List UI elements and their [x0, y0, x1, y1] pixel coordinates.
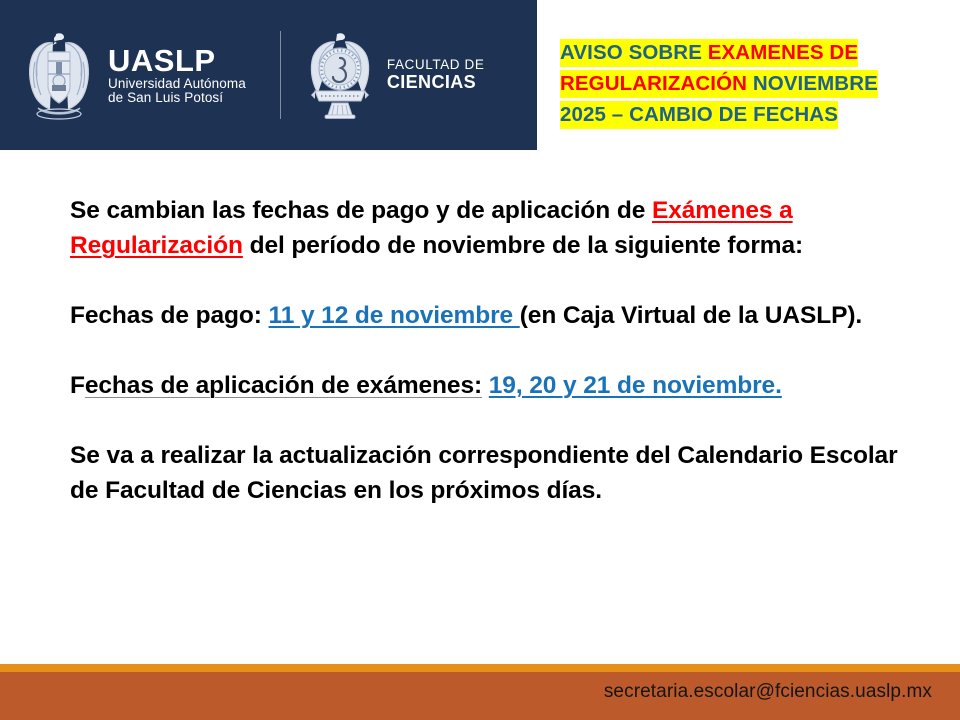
uaslp-eagle-crest-icon [22, 28, 96, 122]
uaslp-acronym: UASLP [108, 45, 246, 77]
p3-space [482, 372, 489, 399]
p2-text-c: (en Caja Virtual de la UASLP). [520, 302, 862, 329]
uaslp-wordmark: UASLP Universidad Autónoma de San Luis P… [108, 45, 246, 104]
notice-title-part-cambio-de-fechas: 2025 – CAMBIO DE FECHAS [560, 101, 838, 129]
body-paragraph-3-fechas-de-aplicacion: Fechas de aplicación de exámenes: 19, 20… [70, 368, 925, 403]
facultad-line2: CIENCIAS [387, 73, 485, 92]
notice-title: AVISO SOBRE EXAMENES DE REGULARIZACIÓN N… [560, 37, 950, 130]
facultad-line1: FACULTAD DE [387, 58, 485, 72]
notice-title-part-regularizacion: REGULARIZACIÓN [560, 70, 747, 98]
notice-title-line-1: AVISO SOBRE EXAMENES DE [560, 37, 950, 68]
facultad-logo-group: FACULTAD DE CIENCIAS [305, 29, 485, 121]
facultad-wordmark: FACULTAD DE CIENCIAS [387, 58, 485, 91]
logo-divider [280, 31, 281, 119]
uaslp-logo-group: UASLP Universidad Autónoma de San Luis P… [22, 28, 246, 122]
footer-contact-email[interactable]: secretaria.escolar@fciencias.uaslp.mx [604, 681, 932, 703]
notice-title-part-noviembre: NOVIEMBRE [747, 70, 878, 98]
uaslp-name-line2: de San Luis Potosí [108, 91, 246, 105]
body-paragraph-2-fechas-de-pago: Fechas de pago: 11 y 12 de noviembre (en… [70, 298, 925, 333]
p1-text-a: Se cambian las fechas de pago y de aplic… [70, 197, 652, 224]
p3-text-a: F [70, 372, 85, 399]
p2-label: Fechas de pago: [70, 302, 269, 329]
p4-text: Se va a realizar la actualización corres… [70, 442, 898, 504]
notice-slide: UASLP Universidad Autónoma de San Luis P… [0, 0, 960, 720]
notice-title-line-2: REGULARIZACIÓN NOVIEMBRE [560, 68, 950, 99]
p2-payment-dates: 11 y 12 de noviembre [269, 302, 520, 329]
notice-title-line-3: 2025 – CAMBIO DE FECHAS [560, 99, 950, 130]
body-paragraph-1: Se cambian las fechas de pago y de aplic… [70, 193, 925, 263]
body-paragraph-4: Se va a realizar la actualización corres… [70, 438, 925, 508]
header-logo-row: UASLP Universidad Autónoma de San Luis P… [0, 0, 537, 150]
p3-label: echas de aplicación de exámenes: [85, 372, 482, 399]
notice-title-part-aviso-sobre: AVISO SOBRE [560, 39, 708, 67]
footer-accent-stripe [0, 664, 960, 672]
notice-title-part-examenes-de: EXAMENES DE [708, 39, 858, 67]
facultad-ciencias-seal-icon [305, 29, 375, 121]
uaslp-name-line1: Universidad Autónoma [108, 77, 246, 91]
p3-exam-dates: 19, 20 y 21 de noviembre. [489, 372, 782, 399]
notice-body: Se cambian las fechas de pago y de aplic… [70, 193, 925, 508]
p1-text-c: del período de noviembre de la siguiente… [243, 232, 803, 259]
